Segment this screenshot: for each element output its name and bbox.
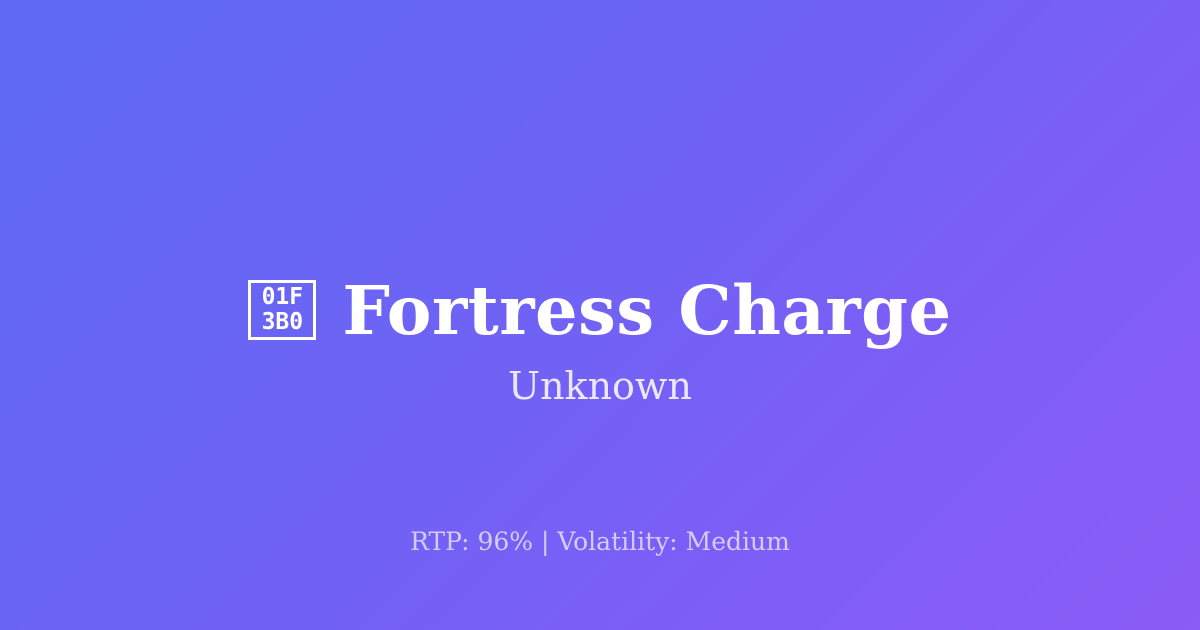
tofu-hex-top: 01F	[262, 285, 304, 310]
tofu-hex-bottom: 3B0	[262, 310, 304, 335]
game-stats-footer: RTP: 96% | Volatility: Medium	[0, 527, 1200, 557]
page-title: Fortress Charge	[342, 277, 951, 344]
game-preview-card: 01F 3B0 Fortress Charge Unknown RTP: 96%…	[0, 0, 1200, 630]
provider-subtitle: Unknown	[0, 364, 1200, 410]
slot-machine-icon: 01F 3B0	[248, 280, 316, 340]
